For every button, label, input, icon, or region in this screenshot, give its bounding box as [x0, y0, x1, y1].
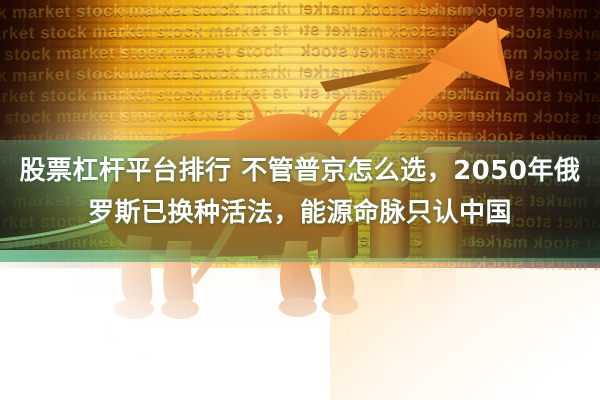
headline-line-2: 罗斯已换种活法，能源命脉只认中国: [88, 194, 512, 232]
headline-line-1: 股票杠杆平台排行 不管普京怎么选，2050年俄: [20, 152, 581, 190]
banner-image: stock market stock market stock market s…: [0, 0, 600, 400]
headline-text-block: 股票杠杆平台排行 不管普京怎么选，2050年俄 罗斯已换种活法，能源命脉只认中国: [0, 152, 600, 252]
floor-left-whitewash: [0, 250, 230, 400]
floor-warm-tint: [330, 258, 600, 400]
